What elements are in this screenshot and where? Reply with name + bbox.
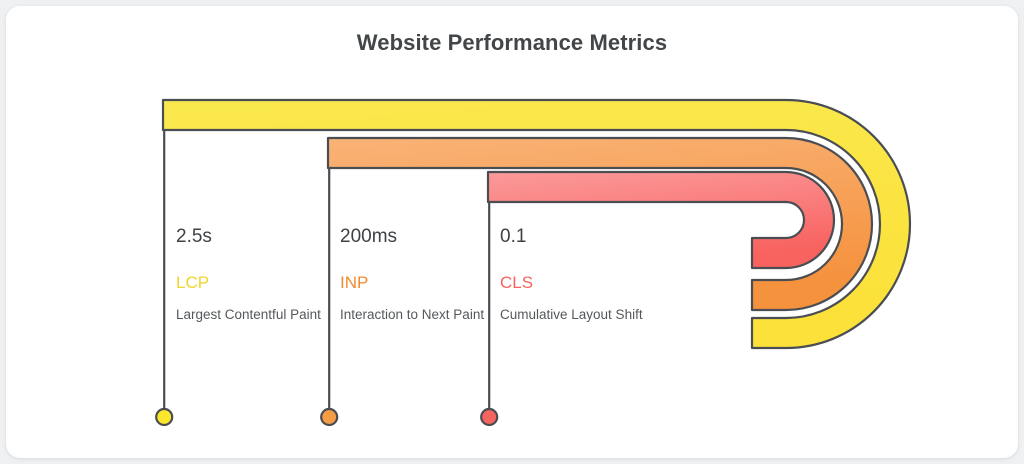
dot-lcp	[156, 409, 172, 425]
metric-value-inp: 200ms	[340, 226, 500, 248]
chart-card: Website Performance Metrics	[6, 6, 1018, 458]
metric-desc-inp: Interaction to Next Paint	[340, 306, 500, 323]
metric-block-cls: 0.1 CLS Cumulative Layout Shift	[500, 226, 660, 323]
dot-cls	[481, 409, 497, 425]
metric-value-cls: 0.1	[500, 226, 660, 248]
dot-inp	[321, 409, 337, 425]
metric-block-inp: 200ms INP Interaction to Next Paint	[340, 226, 500, 323]
metric-code-cls: CLS	[500, 273, 660, 293]
metric-value-lcp: 2.5s	[176, 226, 336, 248]
metric-block-lcp: 2.5s LCP Largest Contentful Paint	[176, 226, 336, 323]
metric-desc-cls: Cumulative Layout Shift	[500, 306, 660, 323]
metric-code-lcp: LCP	[176, 273, 336, 293]
metric-desc-lcp: Largest Contentful Paint	[176, 306, 336, 323]
metric-code-inp: INP	[340, 273, 500, 293]
